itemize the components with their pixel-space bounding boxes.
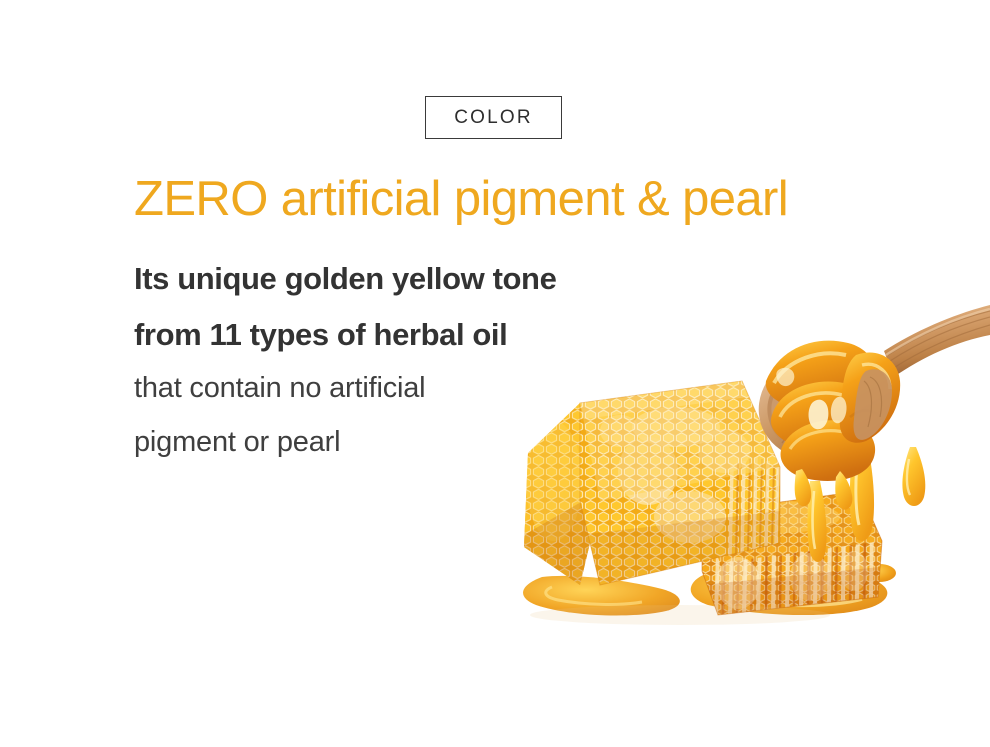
section-label-text: COLOR <box>454 107 533 129</box>
body-bold-line-2: from 11 types of herbal oil <box>134 318 507 352</box>
body-bold-line-1: Its unique golden yellow tone <box>134 262 556 296</box>
body-light-line-1: that contain no artificial <box>134 373 425 405</box>
color-feature-banner: COLOR ZERO artificial pigment & pearl It… <box>0 0 990 747</box>
honeycomb-image <box>480 285 990 635</box>
section-label-box: COLOR <box>425 96 562 139</box>
headline: ZERO artificial pigment & pearl <box>134 173 788 227</box>
body-light-line-2: pigment or pearl <box>134 427 340 459</box>
